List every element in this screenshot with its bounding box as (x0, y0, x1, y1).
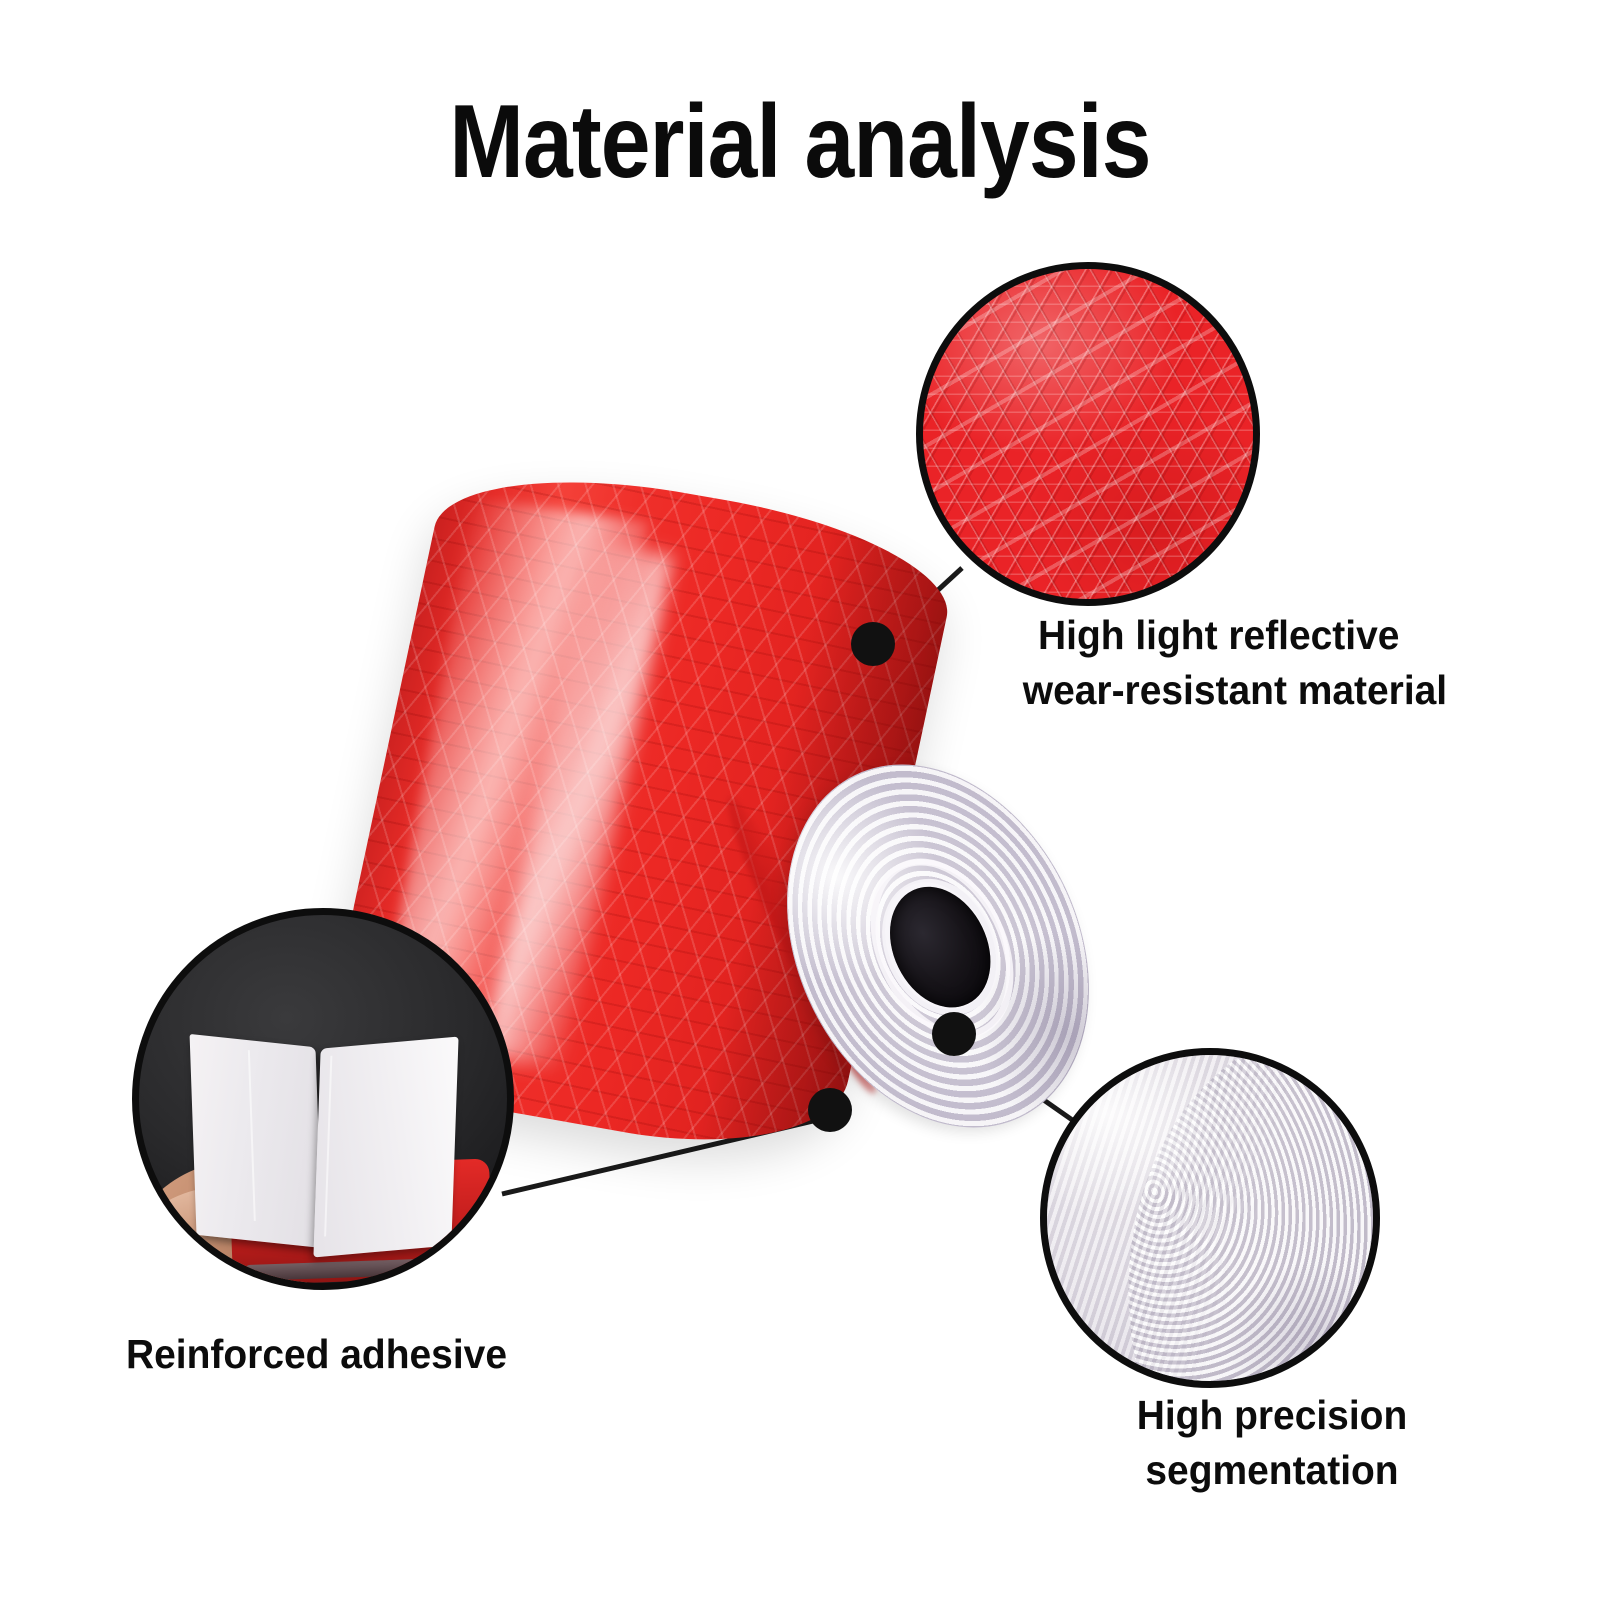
callout-label-segmentation-line-2: segmentation (1073, 1443, 1472, 1498)
callout-dot-reflective (851, 622, 895, 666)
liner-crease-left (248, 1050, 256, 1221)
liner-crease-right (324, 1056, 332, 1237)
callout-label-segmentation-line-1: High precision (1073, 1388, 1472, 1443)
paper-sheen-overlay (1047, 1055, 1373, 1381)
callout-label-segmentation: High precision segmentation (1073, 1388, 1472, 1499)
peeled-liner-left (190, 1034, 323, 1248)
callout-label-adhesive-line-1: Reinforced adhesive (126, 1327, 620, 1382)
callout-dot-segmentation (932, 1012, 976, 1056)
reflective-sparkle-overlay (923, 269, 1253, 599)
detail-circle-adhesive (132, 908, 514, 1290)
callout-label-reflective: High light reflective wear-resistant mat… (1038, 608, 1532, 719)
callout-label-reflective-line-1: High light reflective (1038, 608, 1532, 663)
detail-circle-reflective (916, 262, 1260, 606)
infographic-canvas: Material analysis High light reflective … (0, 0, 1600, 1600)
callout-label-reflective-line-2: wear-resistant material (1023, 663, 1532, 718)
peeled-liner-right (313, 1037, 458, 1258)
page-title: Material analysis (112, 88, 1488, 197)
callout-label-adhesive: Reinforced adhesive (126, 1327, 620, 1382)
callout-dot-adhesive (808, 1088, 852, 1132)
detail-circle-segmentation (1040, 1048, 1380, 1388)
